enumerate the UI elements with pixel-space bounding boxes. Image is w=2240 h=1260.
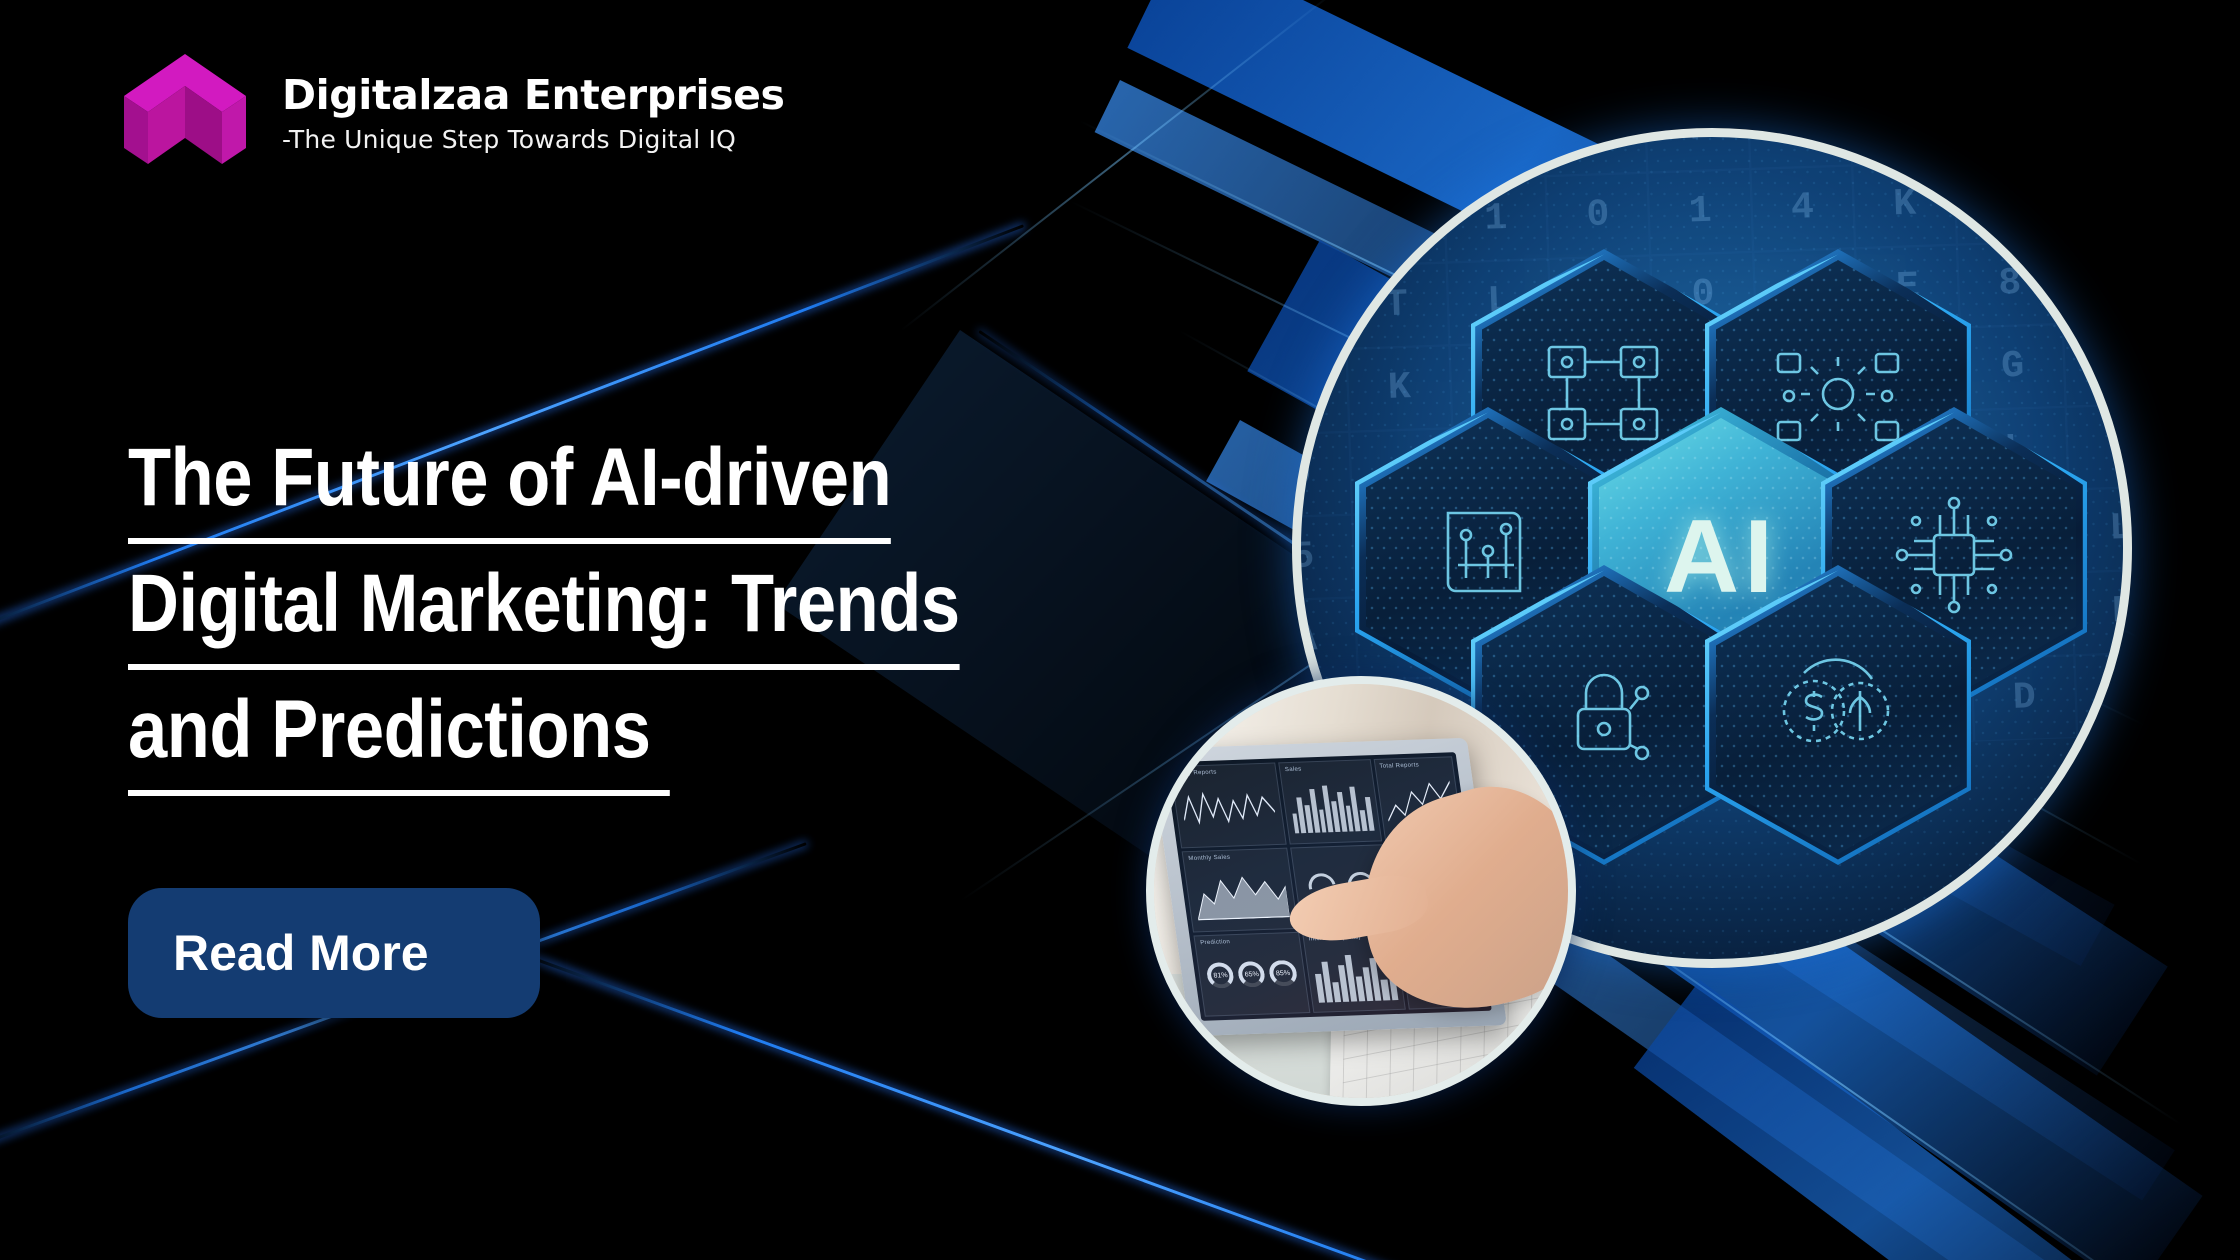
chip-processor-icon xyxy=(1890,491,2018,624)
card-label: Monthly Sales xyxy=(1188,854,1231,861)
page-title: The Future of AI-driven Digital Marketin… xyxy=(128,418,1148,796)
dashboard-card-prediction: Prediction 81% 65% 85% xyxy=(1193,932,1311,1017)
ai-label: AI xyxy=(1664,498,1778,617)
dashboard-card-bars: Sales xyxy=(1278,760,1382,845)
brand-title: Digitalzaa Enterprises xyxy=(282,71,785,119)
brand-tagline: -The Unique Step Towards Digital IQ xyxy=(282,125,785,154)
money-search-icon xyxy=(1768,653,1908,778)
card-label: Sales xyxy=(1284,767,1301,774)
donut-value: 65% xyxy=(1236,961,1266,988)
chevron-3d-logo-icon xyxy=(122,52,248,168)
logo-icon[interactable] xyxy=(122,52,248,168)
donut-value: 85% xyxy=(1268,960,1298,987)
tablet-dashboard-photo: Daily Reports Sales xyxy=(1146,676,1576,1106)
card-label: Total Reports xyxy=(1379,763,1419,770)
headline-line-2: Digital Marketing: Trends xyxy=(128,544,960,670)
dashboard-card-line: Daily Reports xyxy=(1169,763,1287,848)
headline-line-3: and Predictions xyxy=(128,670,670,796)
brand-lockup[interactable]: Digitalzaa Enterprises -The Unique Step … xyxy=(122,52,785,168)
dashboard-card-monthly: Monthly Sales xyxy=(1181,847,1299,932)
read-more-button[interactable]: Read More xyxy=(128,888,540,1018)
card-label: Prediction xyxy=(1199,939,1230,946)
card-label: Daily Reports xyxy=(1176,770,1217,777)
headline-line-1: The Future of AI-driven xyxy=(128,418,891,544)
gear-settings-icon xyxy=(1772,336,1904,463)
banner-canvas: G 2 K L 7 4 S D 5 M 5 1 0 1 4 K D 1 A T xyxy=(0,0,2240,1260)
donut-value: 81% xyxy=(1205,962,1235,989)
circuit-board-icon xyxy=(1428,495,1548,620)
network-nodes-icon xyxy=(1539,337,1669,462)
